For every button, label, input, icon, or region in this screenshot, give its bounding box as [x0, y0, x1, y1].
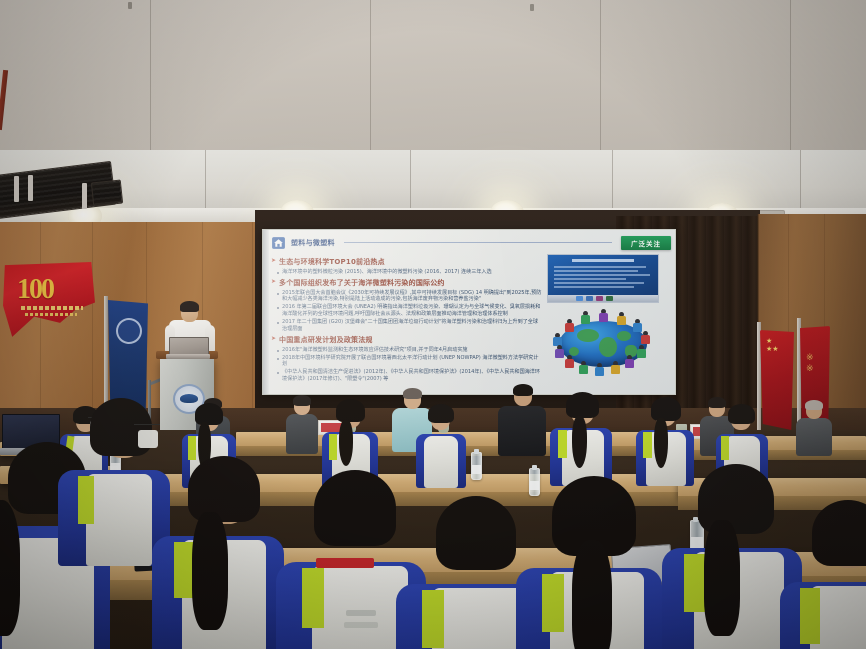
heading-marker-icon: ➤: [271, 257, 276, 265]
wall-speaker-left-secondary: [91, 179, 123, 206]
lecture-hall-photo: 100 ★★★ ※※: [0, 0, 866, 649]
slide-section-heading: ➤ 生态与环境科学TOP10前沿热点: [271, 257, 543, 267]
slide-badge: 广泛关注: [621, 236, 671, 250]
bullet-text: 《中华人民共和国清洁生产促进法》(2012年)、《中华人民共和国环境保护法》(2…: [282, 369, 543, 382]
slide-bullet: 2017 年二十国集团 (G20) 汉堡峰会"二十国集团团海洋垃圾行动计划"将海…: [271, 319, 543, 332]
section-heading-text: 中国重点研发计划及政策法规: [279, 335, 373, 345]
slide-header: 塑料与微塑料 广泛关注: [271, 234, 671, 251]
bullet-dot-icon: [277, 293, 279, 295]
globe-international-cooperation-graphic: [547, 311, 659, 377]
heading-marker-icon: ➤: [271, 278, 276, 286]
flag-stars: ★★★: [766, 338, 779, 354]
bullet-dot-icon: [277, 322, 279, 324]
slide-section-heading: ➤ 多个国际组织发布了关于海洋微塑料污染的国际公约: [271, 278, 543, 288]
bullet-text: 海洋环境中的塑料微粒污染 (2015)、海洋环境中的微塑料污染 (2016、20…: [282, 269, 492, 276]
water-bottle: [529, 468, 540, 496]
slide-bullet: 2016年"海洋微塑料监测和生态环境效应评估技术研究"项目,并于同年4月启动实施: [271, 347, 543, 354]
slide-bullet: 2015年联合国大会首脑会议《2030年可持续发展议程》,其中可持续发展目标 (…: [271, 290, 543, 303]
bullet-text: 2016年"海洋微塑料监测和生态环境效应评估技术研究"项目,并于同年4月启动实施: [282, 347, 468, 354]
party-flag-emblem: ※※: [806, 352, 814, 374]
slide-figure-column: [543, 254, 665, 383]
document-screenshot: [547, 254, 659, 303]
bullet-text: 2018年中国环境科学研究院开展了联合国环境署西北太平洋行动计划 (UNEP N…: [282, 355, 543, 368]
bullet-dot-icon: [277, 307, 279, 309]
header-divider: [344, 242, 612, 243]
water-bottle: [471, 452, 482, 480]
slide-bullet: 《中华人民共和国清洁生产促进法》(2012年)、《中华人民共和国环境保护法》(2…: [271, 369, 543, 382]
bullet-dot-icon: [277, 372, 279, 374]
slide-section-heading: ➤ 中国重点研发计划及政策法规: [271, 335, 543, 345]
slide-bullet: 2016 年第二届联合国环境大会 (UNEA2) 明确指出海洋塑料垃圾污染、珊瑚…: [271, 304, 543, 317]
bullet-dot-icon: [277, 358, 279, 360]
red-neckerchief: [316, 558, 374, 568]
bullet-text: 2016 年第二届联合国环境大会 (UNEA2) 明确指出海洋塑料垃圾污染、珊瑚…: [282, 304, 543, 317]
slide-bullet: 2018年中国环境科学研究院开展了联合国环境署西北太平洋行动计划 (UNEP N…: [271, 355, 543, 368]
section-heading-text: 多个国际组织发布了关于海洋微塑料污染的国际公约: [279, 278, 445, 288]
home-icon: [271, 236, 286, 250]
blue-flag-emblem: [116, 318, 142, 344]
slide-title: 塑料与微塑料: [291, 238, 335, 248]
cpc-centenary-emblem: 100: [3, 262, 95, 340]
bullet-dot-icon: [277, 350, 279, 352]
bullet-text: 2017 年二十国集团 (G20) 汉堡峰会"二十国集团团海洋垃圾行动计划"将海…: [282, 319, 543, 332]
slide-content: 塑料与微塑料 广泛关注 ➤ 生态与环境科学TOP10前沿热点 海洋环境中的塑料: [271, 234, 671, 392]
presenter-laptop: [166, 337, 210, 359]
ceiling: [0, 0, 866, 152]
bullet-text: 2015年联合国大会首脑会议《2030年可持续发展议程》,其中可持续发展目标 (…: [282, 290, 543, 303]
section-heading-text: 生态与环境科学TOP10前沿热点: [279, 257, 385, 267]
bullet-dot-icon: [277, 272, 279, 274]
projection-screen: 塑料与微塑料 广泛关注 ➤ 生态与环境科学TOP10前沿热点 海洋环境中的塑料: [262, 229, 676, 395]
heading-marker-icon: ➤: [271, 335, 276, 343]
slide-text-column: ➤ 生态与环境科学TOP10前沿热点 海洋环境中的塑料微粒污染 (2015)、海…: [271, 254, 543, 383]
slide-bullet: 海洋环境中的塑料微粒污染 (2015)、海洋环境中的微塑料污染 (2016、20…: [271, 269, 543, 276]
